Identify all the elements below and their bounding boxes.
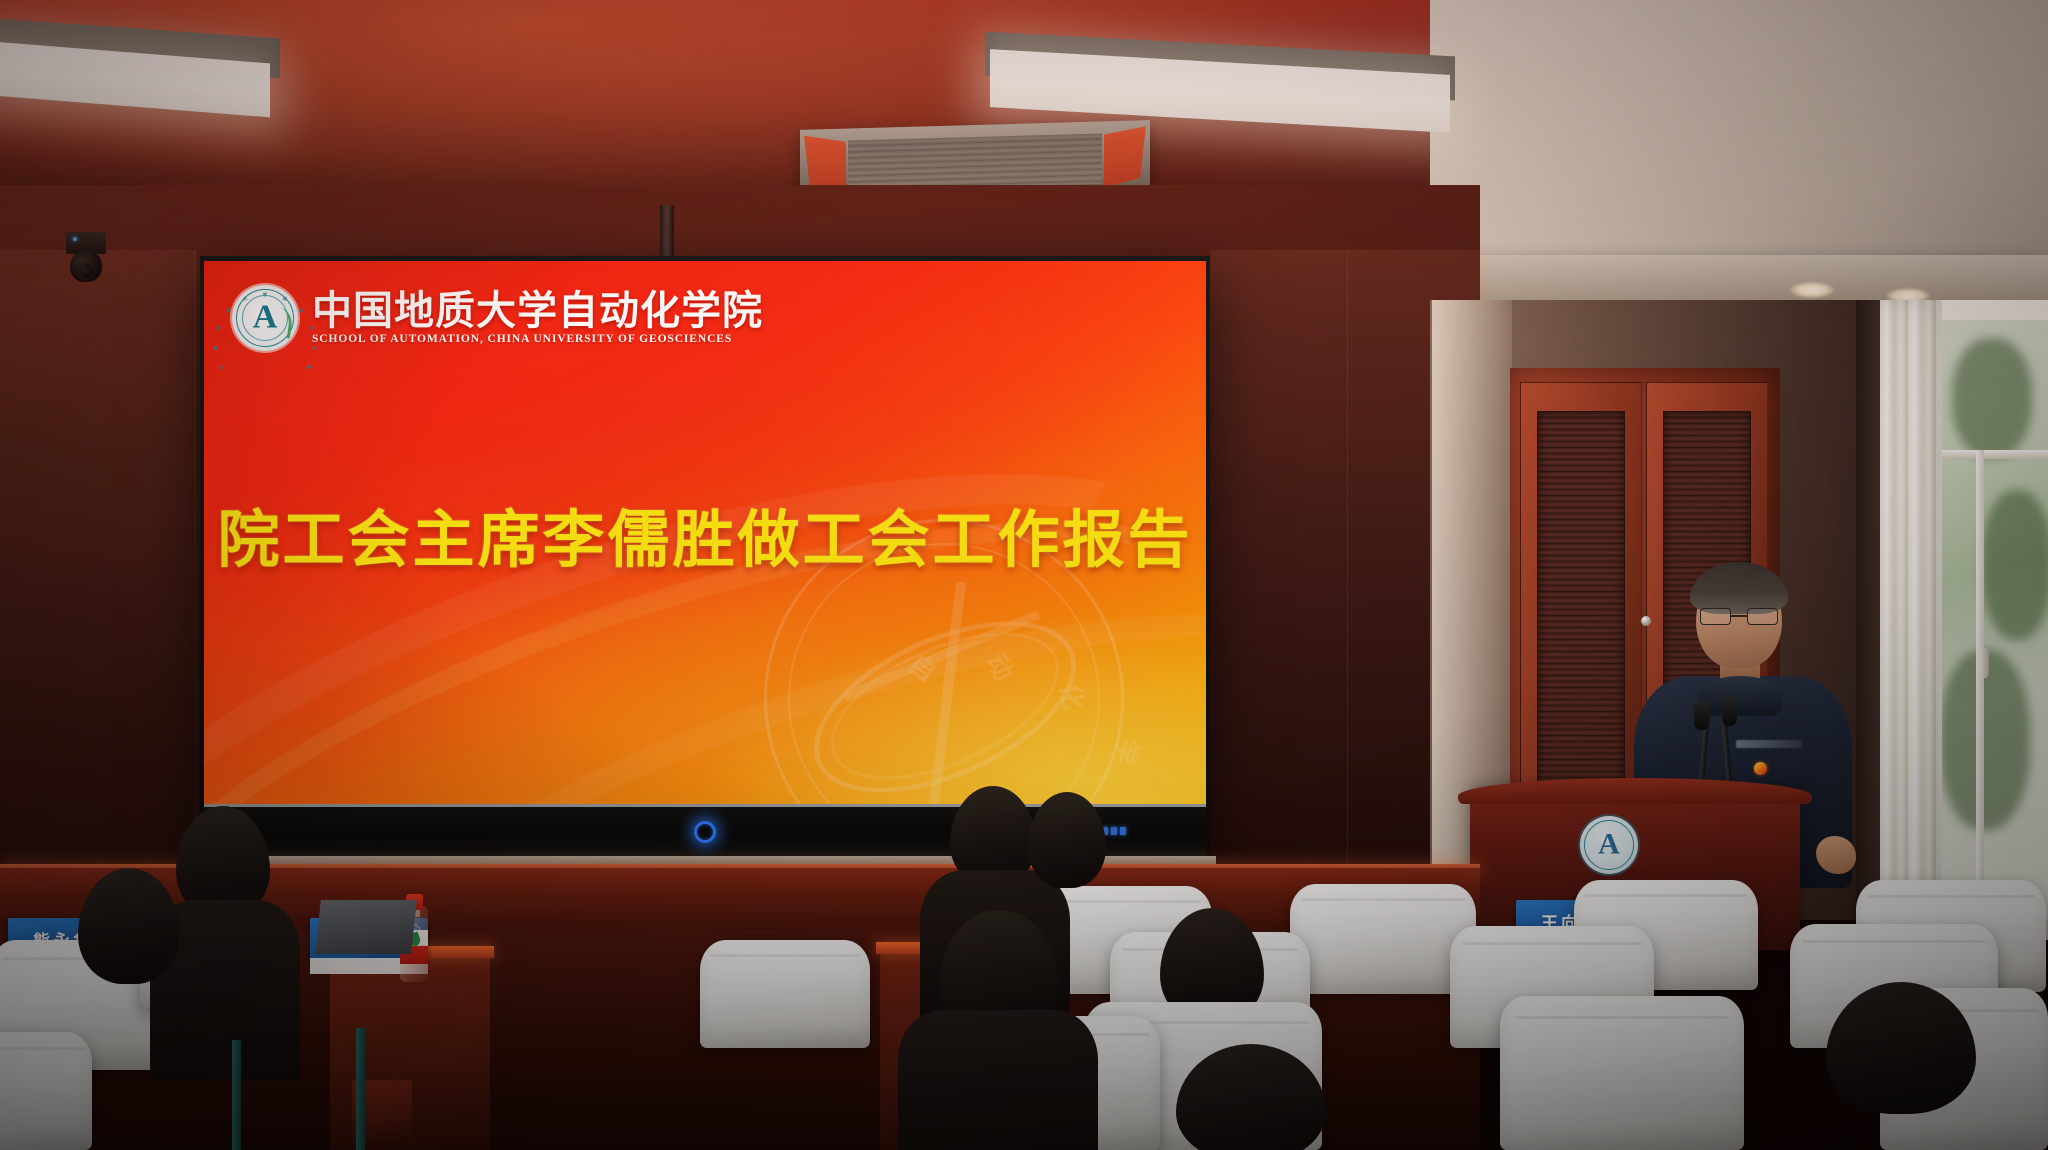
org-name-cn: 中国地质大学自动化学院 <box>312 291 763 332</box>
seal-char: 自 <box>281 296 287 303</box>
seal-char: 院 <box>305 364 312 371</box>
microphone-icon <box>1694 700 1709 730</box>
seal-char: 大 <box>242 296 248 303</box>
audience-seat <box>1290 884 1476 994</box>
audience-seat <box>1500 996 1744 1150</box>
slide-background: SCHOOL OF AUTOMATION CHINA UNIVERSITY OF… <box>204 261 1206 804</box>
glasses-icon <box>1700 608 1778 625</box>
microphone-icon <box>1722 696 1737 726</box>
seal-char: 中 <box>218 364 225 371</box>
lapel-pin-icon <box>1754 762 1767 775</box>
seal-char: 学 <box>311 345 317 350</box>
attendee-body <box>898 1010 1098 1150</box>
seat-leg <box>356 1028 365 1150</box>
window-mullion <box>1934 450 2048 459</box>
window <box>1880 300 2048 940</box>
seal-char: 地 <box>215 325 222 331</box>
audience-seat <box>700 940 870 1048</box>
podium-emblem-letter: A <box>1598 829 1620 859</box>
seal-char: 质 <box>225 307 232 314</box>
seat-leg <box>232 1040 241 1150</box>
watermark-char-cn: 动 <box>979 646 1024 687</box>
window-mullion <box>1976 450 1984 920</box>
university-seal-icon: A 中国地质大学自动化学院 <box>232 285 298 351</box>
slide-logo-row: A 中国地质大学自动化学院 中国地质大学自动化学院 SCHOOL OF AUTO… <box>232 285 763 351</box>
curtain <box>1880 300 1942 940</box>
org-name-en: SCHOOL OF AUTOMATION, CHINA UNIVERSITY O… <box>312 333 763 345</box>
watermark-char-cn: 化 <box>1053 681 1093 711</box>
slide-title: 院工会主席李儒胜做工会工作报告 <box>204 489 1206 579</box>
window-handle[interactable] <box>1980 648 1989 678</box>
watermark-char-cn: 自 <box>902 644 945 689</box>
audience-seat <box>0 1032 92 1150</box>
led-display[interactable]: SCHOOL OF AUTOMATION CHINA UNIVERSITY OF… <box>200 256 1210 856</box>
wall-panel <box>0 250 196 890</box>
conference-hall-scene: SCHOOL OF AUTOMATION CHINA UNIVERSITY OF… <box>0 0 2048 1150</box>
laptop[interactable] <box>315 900 417 954</box>
seal-char: 动 <box>297 307 304 314</box>
wall-panel <box>1210 250 1348 890</box>
surveillance-camera-icon <box>62 232 110 290</box>
downlight-icon <box>1790 282 1834 298</box>
seal-char: 国 <box>213 345 219 350</box>
seal-char: 学 <box>263 292 267 298</box>
window-glass <box>1934 320 2048 920</box>
power-indicator-icon[interactable] <box>694 821 716 843</box>
status-led-icon <box>1102 827 1126 835</box>
podium-emblem-icon: A <box>1580 816 1638 874</box>
